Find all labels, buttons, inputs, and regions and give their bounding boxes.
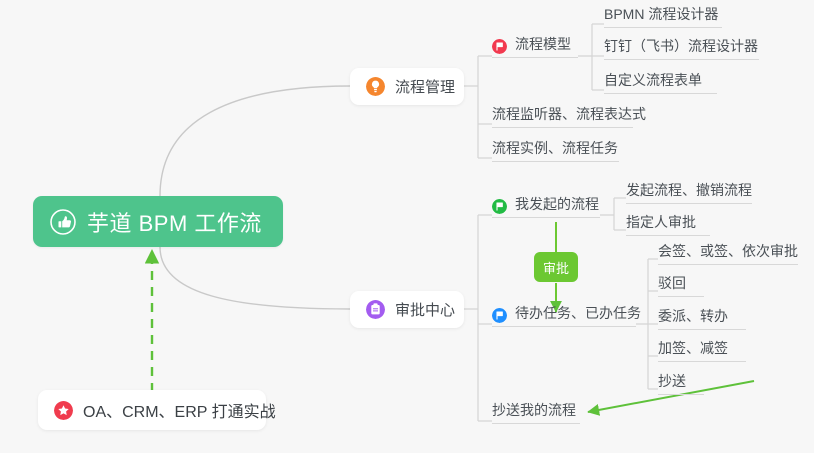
node-reject[interactable]: 驳回	[658, 277, 704, 297]
annotation-badge-approval: 审批	[534, 252, 578, 282]
node-label: 会签、或签、依次审批	[658, 241, 798, 261]
node-label: 流程监听器、流程表达式	[492, 104, 646, 124]
node-countersign[interactable]: 会签、或签、依次审批	[658, 245, 798, 265]
node-todo-done-tasks[interactable]: 待办任务、已办任务	[492, 307, 636, 327]
thumbs-up-icon	[50, 209, 76, 235]
clipboard-icon	[366, 300, 385, 319]
node-process-listener[interactable]: 流程监听器、流程表达式	[492, 108, 633, 128]
node-label: 我发起的流程	[515, 194, 599, 214]
node-label: 加签、减签	[658, 338, 728, 358]
node-delegate-transfer[interactable]: 委派、转办	[658, 310, 746, 330]
mindmap-canvas: 芋道 BPM 工作流 流程管理 流程模型 BPMN 流程设计器 钉钉（飞书）流程…	[0, 0, 814, 453]
node-start-cancel-process[interactable]: 发起流程、撤销流程	[626, 184, 752, 204]
node-label: 钉钉（飞书）流程设计器	[604, 36, 758, 56]
node-custom-form[interactable]: 自定义流程表单	[604, 74, 717, 94]
root-node[interactable]: 芋道 BPM 工作流	[33, 196, 283, 247]
link-model-spine	[578, 24, 592, 90]
node-bpmn-designer[interactable]: BPMN 流程设计器	[604, 8, 722, 28]
node-label: 审批中心	[395, 299, 455, 320]
flag-icon	[492, 39, 507, 54]
node-process-instance[interactable]: 流程实例、流程任务	[492, 142, 619, 162]
link-ac-spine	[464, 215, 478, 421]
flag-icon	[492, 308, 507, 323]
link-root-to-process-management	[160, 86, 350, 196]
node-process-management[interactable]: 流程管理	[350, 68, 464, 105]
node-label: 流程模型	[515, 34, 571, 54]
flag-icon	[492, 199, 507, 214]
node-label: 抄送	[658, 371, 686, 391]
node-label: 发起流程、撤销流程	[626, 180, 752, 200]
node-label: 待办任务、已办任务	[515, 303, 641, 323]
node-label: 驳回	[658, 273, 686, 293]
node-label: 流程实例、流程任务	[492, 138, 618, 158]
node-label: 流程管理	[395, 76, 455, 97]
link-mine-spine	[600, 198, 614, 230]
node-label: 指定人审批	[626, 212, 696, 232]
node-assignee-approval[interactable]: 指定人审批	[626, 216, 710, 236]
callout-card-integration[interactable]: OA、CRM、ERP 打通实战	[38, 390, 266, 430]
node-label: 抄送我的流程	[492, 400, 576, 420]
link-root-to-approval-center	[160, 247, 350, 309]
node-cc[interactable]: 抄送	[658, 375, 704, 395]
node-label: 委派、转办	[658, 306, 728, 326]
lightbulb-icon	[366, 77, 385, 96]
node-cc-to-me[interactable]: 抄送我的流程	[492, 404, 580, 424]
callout-label: OA、CRM、ERP 打通实战	[83, 398, 276, 422]
link-pm-spine	[464, 56, 478, 158]
node-label: BPMN 流程设计器	[604, 4, 718, 24]
node-dingtalk-feishu-designer[interactable]: 钉钉（飞书）流程设计器	[604, 40, 759, 60]
root-label: 芋道 BPM 工作流	[87, 206, 262, 238]
node-label: 自定义流程表单	[604, 70, 702, 90]
link-todo-spine	[636, 259, 648, 389]
star-icon	[54, 401, 73, 420]
node-approval-center[interactable]: 审批中心	[350, 291, 464, 328]
node-my-initiated[interactable]: 我发起的流程	[492, 198, 600, 218]
node-add-remove-sign[interactable]: 加签、减签	[658, 342, 746, 362]
node-process-model[interactable]: 流程模型	[492, 38, 578, 58]
